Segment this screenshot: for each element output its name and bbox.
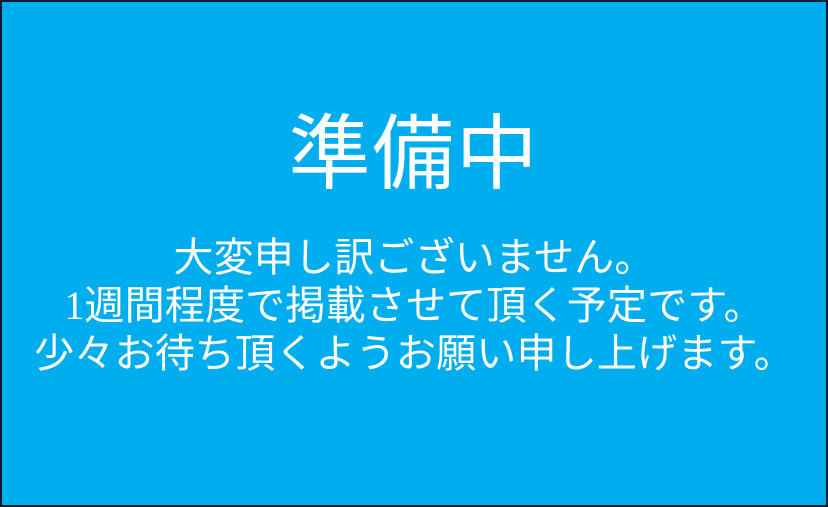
notice-line-2: 1週間程度で掲載させて頂く予定です。 <box>2 282 826 330</box>
under-construction-banner: 準備中 大変申し訳ございません。 1週間程度で掲載させて頂く予定です。 少々お待… <box>0 0 828 507</box>
page-title: 準備中 <box>289 114 540 196</box>
notice-line-1: 大変申し訳ございません。 <box>2 234 826 282</box>
notice-message: 大変申し訳ございません。 1週間程度で掲載させて頂く予定です。 少々お待ち頂くよ… <box>2 234 826 378</box>
notice-line-3: 少々お待ち頂くようお願い申し上げます。 <box>2 330 826 378</box>
